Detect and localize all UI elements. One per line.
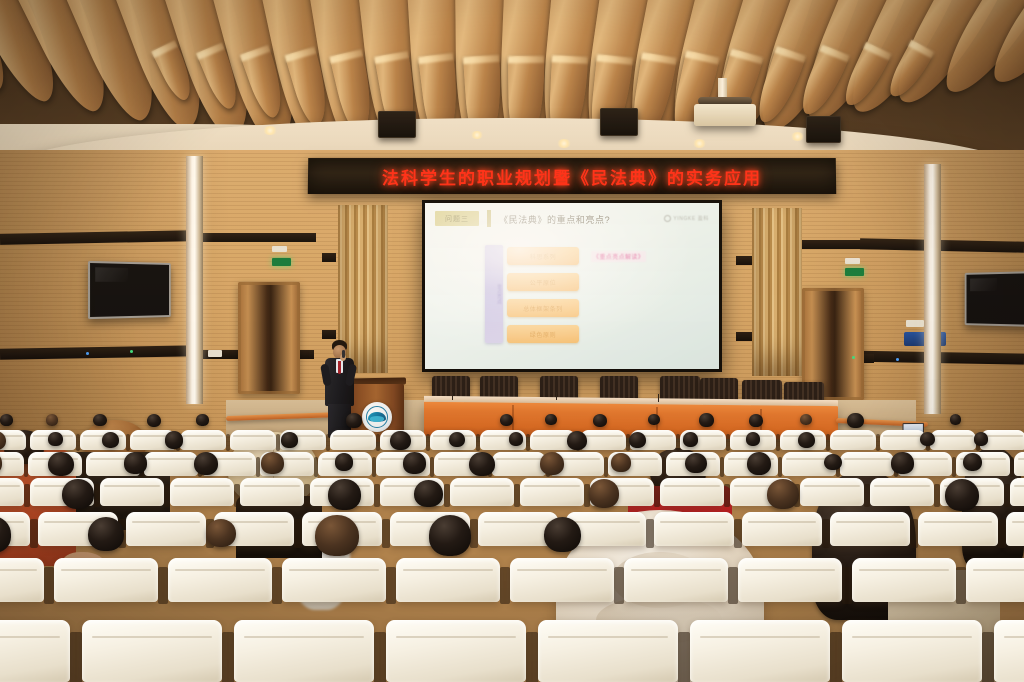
audience-head bbox=[0, 414, 13, 426]
audience-seat[interactable] bbox=[966, 558, 1024, 602]
seat-gap-shadow bbox=[70, 632, 82, 682]
emergency-light-left bbox=[272, 246, 287, 252]
audience-seat[interactable] bbox=[170, 478, 234, 506]
table-microphone bbox=[556, 392, 557, 400]
audience-seat[interactable] bbox=[880, 430, 926, 450]
seat-gap-shadow bbox=[294, 519, 302, 548]
audience-head bbox=[593, 414, 607, 427]
audience-seat[interactable] bbox=[840, 452, 894, 476]
seat-gap-shadow bbox=[526, 632, 538, 682]
slide-item-1: 公平原位 bbox=[507, 273, 579, 291]
audience-seat[interactable] bbox=[330, 430, 376, 450]
audience-head bbox=[544, 517, 581, 552]
audience-seat[interactable] bbox=[396, 558, 500, 602]
ceiling-downlight bbox=[262, 126, 278, 135]
audience-head bbox=[509, 432, 523, 445]
wall-led-indicator bbox=[896, 358, 899, 361]
seat-gap-shadow bbox=[678, 632, 690, 682]
audience-seat[interactable] bbox=[742, 512, 822, 546]
slide-item-0: 科思系列 bbox=[507, 247, 579, 265]
stage-curtain-right bbox=[752, 208, 802, 376]
audience-head bbox=[88, 517, 124, 551]
audience-seat[interactable] bbox=[918, 512, 998, 546]
projection-screen: 问题三 《民法典》的重点和亮点? YINGKE 盈科 重点亮点 科思系列 公平原… bbox=[425, 203, 719, 369]
projection-screen-frame: 问题三 《民法典》的重点和亮点? YINGKE 盈科 重点亮点 科思系列 公平原… bbox=[422, 200, 722, 372]
audience-head bbox=[950, 414, 961, 425]
audience-seat[interactable] bbox=[538, 620, 678, 682]
audience-head bbox=[165, 431, 183, 448]
audience-seat[interactable] bbox=[738, 558, 842, 602]
seat-gap-shadow bbox=[158, 567, 168, 604]
audience-head bbox=[747, 452, 771, 475]
seat-gap-shadow bbox=[646, 519, 654, 548]
audience-seat[interactable] bbox=[842, 620, 982, 682]
audience-head bbox=[62, 479, 94, 509]
ceiling-projector bbox=[684, 78, 764, 130]
led-banner: 法科学生的职业规划暨《民法典》的实务应用 bbox=[308, 158, 836, 194]
audience-head bbox=[974, 432, 988, 446]
audience-head bbox=[798, 432, 815, 448]
auditorium-photo: 法科学生的职业规划暨《民法典》的实务应用 问题三 《民法典》的重点和亮点? YI… bbox=[0, 0, 1024, 682]
wall-band-curtain-right-2 bbox=[736, 332, 752, 341]
slide-logo-mark bbox=[664, 215, 671, 222]
audience-head bbox=[611, 453, 630, 471]
seat-gap-shadow bbox=[500, 567, 510, 604]
wall-band-left-near-door bbox=[196, 233, 316, 242]
audience-head bbox=[93, 414, 106, 427]
ceiling-fin-uplight bbox=[463, 54, 499, 63]
audience-head bbox=[261, 452, 284, 474]
slide-logo: YINGKE 盈科 bbox=[664, 215, 709, 222]
audience-head bbox=[206, 519, 236, 547]
seat-gap-shadow bbox=[734, 519, 742, 548]
audience-seat[interactable] bbox=[1014, 452, 1024, 476]
slide-title-divider bbox=[487, 210, 491, 227]
audience-seat[interactable] bbox=[800, 478, 864, 506]
audience-head bbox=[749, 414, 763, 427]
audience-head bbox=[648, 414, 660, 425]
audience-head bbox=[194, 452, 218, 475]
audience-seat[interactable] bbox=[168, 558, 272, 602]
seat-gap-shadow bbox=[728, 567, 738, 604]
audience-head bbox=[429, 515, 471, 555]
audience-seat[interactable] bbox=[830, 430, 876, 450]
audience-head bbox=[540, 452, 564, 475]
audience-head bbox=[46, 414, 59, 426]
slide-sidebar-label: 重点亮点 bbox=[485, 261, 503, 328]
audience-head bbox=[945, 479, 979, 511]
audience-head bbox=[891, 452, 913, 473]
audience-seat[interactable] bbox=[180, 430, 226, 450]
audience-seat[interactable] bbox=[510, 558, 614, 602]
audience-seat[interactable] bbox=[994, 620, 1024, 682]
seat-gap-shadow bbox=[842, 567, 852, 604]
wall-led-indicator bbox=[130, 350, 133, 353]
ceiling-downlight bbox=[556, 139, 572, 148]
wall-band-curtain-left-2 bbox=[322, 330, 336, 339]
audience-head bbox=[48, 432, 62, 446]
wall-band-curtain-left bbox=[322, 253, 336, 262]
audience-head bbox=[746, 432, 760, 446]
podium-emblem bbox=[362, 402, 392, 432]
seat-gap-shadow bbox=[272, 567, 282, 604]
seat-gap-shadow bbox=[614, 567, 624, 604]
wall-band-curtain-right bbox=[736, 256, 752, 265]
speaker-tie bbox=[338, 361, 341, 374]
ceiling-downlight bbox=[470, 131, 484, 139]
seat-gap-shadow bbox=[822, 519, 830, 548]
slide-annotation: 《重点亮点解读》 bbox=[591, 251, 646, 262]
slide-item-2: 总体框架条列 bbox=[507, 299, 579, 317]
audience-seat[interactable] bbox=[144, 452, 198, 476]
audience-seat[interactable] bbox=[852, 558, 956, 602]
ceiling-speaker-2 bbox=[600, 108, 638, 136]
audience-head bbox=[963, 453, 982, 471]
audience-head bbox=[335, 453, 353, 470]
audience-head bbox=[629, 432, 647, 449]
table-microphone bbox=[452, 392, 453, 400]
audience-head bbox=[589, 479, 619, 508]
audience-head bbox=[281, 432, 298, 448]
seat-gap-shadow bbox=[956, 567, 966, 604]
audience-seat[interactable] bbox=[870, 478, 934, 506]
audience-head bbox=[824, 454, 842, 471]
audience-head bbox=[102, 432, 119, 448]
audience-head bbox=[767, 479, 799, 509]
wall-switch-plate-left bbox=[208, 350, 222, 357]
ceiling-downlight bbox=[790, 132, 805, 141]
audience-seat[interactable] bbox=[230, 430, 276, 450]
slide-sidebar-column: 重点亮点 bbox=[485, 245, 503, 343]
left-wall-monitor bbox=[88, 261, 171, 319]
ceiling-speaker-3 bbox=[806, 116, 841, 143]
audience-seat[interactable] bbox=[240, 478, 304, 506]
audience-seat[interactable] bbox=[1006, 512, 1024, 546]
audience-seat[interactable] bbox=[660, 478, 724, 506]
audience-seat[interactable] bbox=[54, 558, 158, 602]
seat-gap-shadow bbox=[374, 632, 386, 682]
projector-body bbox=[694, 104, 756, 126]
audience-head bbox=[403, 452, 425, 473]
audience-head bbox=[683, 432, 698, 446]
audience-head bbox=[567, 431, 587, 450]
audience-head bbox=[147, 414, 161, 427]
audience-seat[interactable] bbox=[930, 430, 976, 450]
audience-seat[interactable] bbox=[0, 620, 70, 682]
audience-seat[interactable] bbox=[450, 478, 514, 506]
audience-seat[interactable] bbox=[282, 558, 386, 602]
seat-gap-shadow bbox=[982, 632, 994, 682]
led-banner-text: 法科学生的职业规划暨《民法典》的实务应用 bbox=[382, 164, 762, 189]
wall-led-indicator bbox=[852, 356, 855, 359]
seat-gap-shadow bbox=[386, 567, 396, 604]
slide-item-3: 绿色原则 bbox=[507, 325, 579, 343]
audience-seat[interactable] bbox=[386, 620, 526, 682]
ceiling-speaker-1 bbox=[378, 111, 416, 138]
audience-head bbox=[328, 479, 360, 510]
audience-seat[interactable] bbox=[580, 430, 626, 450]
audience-seat[interactable] bbox=[624, 558, 728, 602]
audience-head bbox=[124, 452, 146, 473]
seat-gap-shadow bbox=[830, 632, 842, 682]
audience-head bbox=[346, 413, 362, 428]
exit-sign-right bbox=[845, 268, 864, 276]
left-exit-door[interactable] bbox=[238, 282, 300, 394]
emblem-swoosh-secondary bbox=[370, 416, 384, 421]
emergency-light-right bbox=[845, 258, 860, 264]
seat-gap-shadow bbox=[470, 519, 478, 548]
audience-head bbox=[469, 452, 495, 476]
audience-head bbox=[315, 515, 358, 556]
audience-head bbox=[414, 480, 443, 507]
seat-gap-shadow bbox=[44, 567, 54, 604]
audience-seat[interactable] bbox=[0, 478, 24, 506]
audience-head bbox=[847, 413, 863, 428]
seat-gap-shadow bbox=[222, 632, 234, 682]
audience-seat[interactable] bbox=[830, 512, 910, 546]
seat-gap-shadow bbox=[382, 519, 390, 548]
audience-head bbox=[390, 431, 410, 450]
slide-title: 《民法典》的重点和亮点? bbox=[499, 213, 610, 226]
table-microphone bbox=[658, 394, 659, 402]
audience-seat[interactable] bbox=[126, 512, 206, 546]
ceiling-downlight bbox=[692, 139, 707, 148]
audience-seat[interactable] bbox=[82, 620, 222, 682]
audience-head bbox=[545, 414, 556, 425]
audience-head bbox=[196, 414, 208, 426]
audience-seat[interactable] bbox=[492, 452, 546, 476]
seat-gap-shadow bbox=[998, 519, 1006, 548]
seat-gap-shadow bbox=[30, 519, 38, 548]
audience-seat[interactable] bbox=[690, 620, 830, 682]
audience-seat[interactable] bbox=[1010, 478, 1024, 506]
wall-switch-plate-right bbox=[906, 320, 924, 327]
exit-sign-left bbox=[272, 258, 291, 266]
audience-seat[interactable] bbox=[0, 452, 24, 476]
slide-logo-text: YINGKE 盈科 bbox=[673, 215, 709, 222]
audience-head bbox=[699, 413, 714, 427]
wall-led-indicator bbox=[86, 352, 89, 355]
ceiling-fin-uplight bbox=[508, 56, 544, 63]
handheld-microphone bbox=[342, 350, 345, 358]
audience-seat[interactable] bbox=[520, 478, 584, 506]
right-wall-monitor bbox=[965, 271, 1024, 327]
ceiling-fin-uplight bbox=[552, 55, 588, 64]
audience-seat[interactable] bbox=[100, 478, 164, 506]
audience-seat[interactable] bbox=[654, 512, 734, 546]
seat-gap-shadow bbox=[910, 519, 918, 548]
audience-seat[interactable] bbox=[234, 620, 374, 682]
audience-seat[interactable] bbox=[0, 558, 44, 602]
audience-head bbox=[48, 452, 74, 476]
right-light-pillar bbox=[924, 164, 941, 414]
left-light-pillar bbox=[186, 156, 203, 404]
slide-question-tag: 问题三 bbox=[435, 211, 479, 226]
audience-head bbox=[685, 453, 706, 473]
